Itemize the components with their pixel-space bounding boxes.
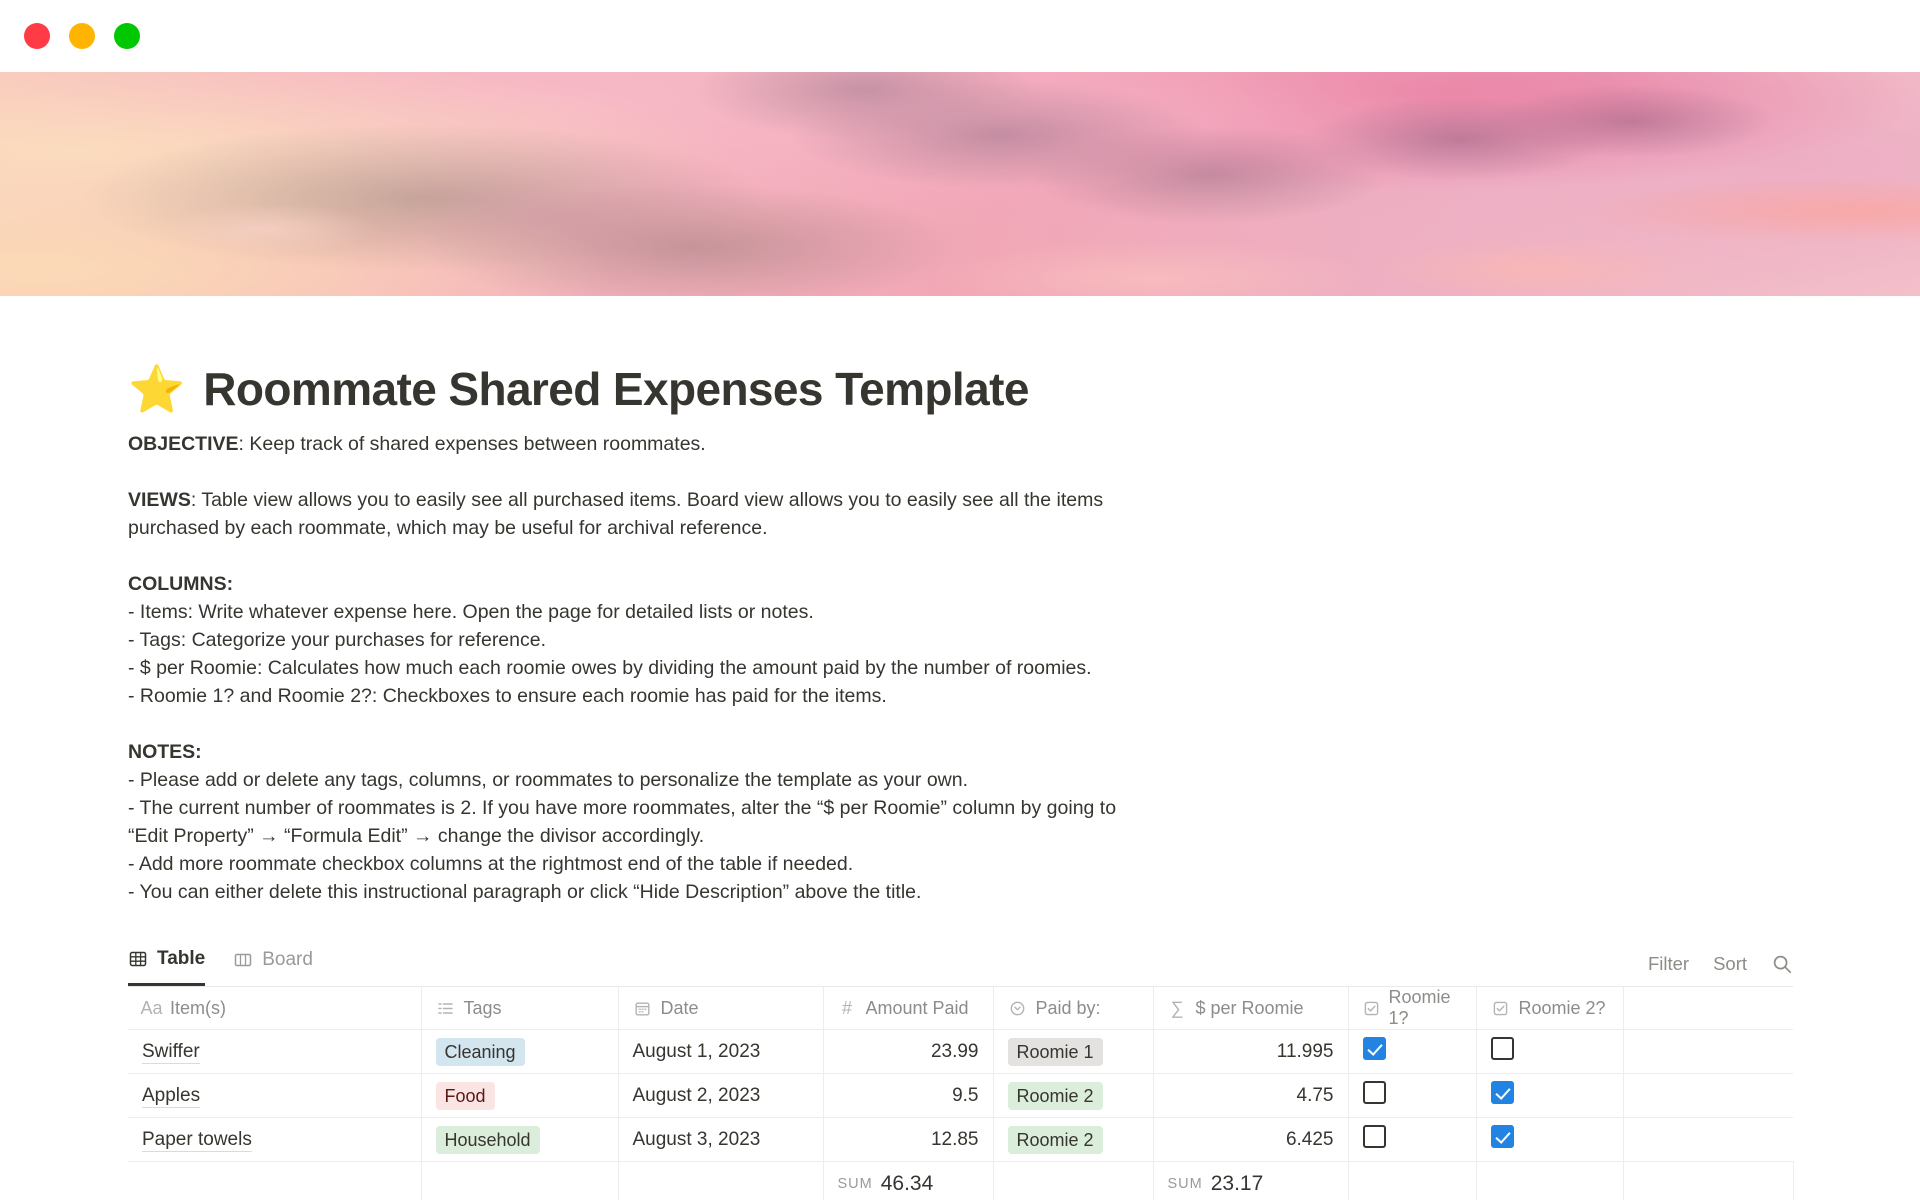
cell-item[interactable]: Apples: [128, 1074, 421, 1118]
footer-empty: [128, 1162, 421, 1200]
footer-empty: [421, 1162, 618, 1200]
column-label: Tags: [464, 998, 502, 1019]
title-text-icon: Aa: [142, 998, 161, 1019]
column-header-tags[interactable]: Tags: [421, 987, 618, 1030]
columns-label: COLUMNS:: [128, 573, 233, 595]
cell-amount[interactable]: 12.85: [823, 1118, 993, 1162]
column-header-paidby[interactable]: Paid by:: [993, 987, 1153, 1030]
cell-roomie1[interactable]: [1348, 1030, 1476, 1074]
views-label: VIEWS: [128, 489, 191, 511]
spacer: [128, 710, 1920, 738]
notes-item: - Please add or delete any tags, columns…: [128, 766, 1148, 794]
star-icon[interactable]: ⭐: [128, 366, 185, 412]
close-button[interactable]: [24, 23, 50, 49]
tab-board-label: Board: [262, 949, 313, 971]
item-link[interactable]: Paper towels: [142, 1129, 252, 1152]
database-block: Table Board Filter Sort: [128, 942, 1793, 1200]
item-link[interactable]: Apples: [142, 1085, 200, 1108]
objective-text: : Keep track of shared expenses between …: [239, 433, 706, 455]
checkbox-icon: [1491, 1000, 1510, 1017]
minimize-button[interactable]: [69, 23, 95, 49]
cell-date[interactable]: August 3, 2023: [618, 1118, 823, 1162]
columns-item: - $ per Roomie: Calculates how much each…: [128, 654, 1148, 682]
objective-label: OBJECTIVE: [128, 433, 239, 455]
per-sum-label: SUM: [1168, 1176, 1203, 1192]
amount-sum[interactable]: SUM46.34: [823, 1162, 993, 1200]
views-paragraph: VIEWS: Table view allows you to easily s…: [128, 486, 1148, 542]
cell-tags[interactable]: Food: [421, 1074, 618, 1118]
table-row[interactable]: Swiffer Cleaning August 1, 2023 23.99 Ro…: [128, 1030, 1793, 1074]
column-header-roomie1[interactable]: Roomie 1?: [1348, 987, 1476, 1030]
notes-label: NOTES:: [128, 741, 202, 763]
cell-amount[interactable]: 9.5: [823, 1074, 993, 1118]
notes-heading: NOTES:: [128, 738, 1148, 766]
per-sum-value: 23.17: [1211, 1172, 1264, 1195]
cell-tags[interactable]: Household: [421, 1118, 618, 1162]
table-row[interactable]: Apples Food August 2, 2023 9.5 Roomie 2 …: [128, 1074, 1793, 1118]
column-label: Amount Paid: [866, 998, 969, 1019]
multi-select-icon: [436, 1000, 455, 1017]
cell-roomie1[interactable]: [1348, 1074, 1476, 1118]
select-icon: [1008, 1000, 1027, 1017]
cell-paid-by[interactable]: Roomie 2: [993, 1118, 1153, 1162]
footer-empty: [1348, 1162, 1476, 1200]
checkbox-icon: [1363, 1000, 1380, 1017]
column-label: Date: [661, 998, 699, 1019]
column-header-amount[interactable]: # Amount Paid: [823, 987, 993, 1030]
roomie2-checkbox[interactable]: [1491, 1081, 1514, 1104]
column-label: Roomie 2?: [1519, 998, 1606, 1019]
cell-item[interactable]: Swiffer: [128, 1030, 421, 1074]
item-link[interactable]: Swiffer: [142, 1041, 200, 1064]
view-tabs: Table Board: [128, 942, 313, 986]
filter-button[interactable]: Filter: [1648, 953, 1689, 975]
cell-item[interactable]: Paper towels: [128, 1118, 421, 1162]
database-toolbar: Table Board Filter Sort: [128, 942, 1793, 986]
column-label: $ per Roomie: [1196, 998, 1304, 1019]
cell-date[interactable]: August 1, 2023: [618, 1030, 823, 1074]
window-titlebar: [0, 0, 1920, 72]
paid-by-chip: Roomie 1: [1008, 1038, 1103, 1066]
calendar-icon: [633, 1000, 652, 1017]
column-header-roomie2[interactable]: Roomie 2?: [1476, 987, 1623, 1030]
footer-empty: [618, 1162, 823, 1200]
roomie1-checkbox[interactable]: [1363, 1081, 1386, 1104]
amount-sum-label: SUM: [838, 1176, 873, 1192]
board-icon: [233, 950, 253, 970]
roomie1-checkbox[interactable]: [1363, 1125, 1386, 1148]
add-column-button[interactable]: [1623, 987, 1793, 1030]
cell-per-roomie: 6.425: [1153, 1118, 1348, 1162]
footer-empty: [1623, 1162, 1793, 1200]
columns-item: - Tags: Categorize your purchases for re…: [128, 626, 1148, 654]
column-label: Item(s): [170, 998, 226, 1019]
objective-paragraph: OBJECTIVE: Keep track of shared expenses…: [128, 430, 1148, 458]
cell-per-roomie: 11.995: [1153, 1030, 1348, 1074]
column-label: Paid by:: [1036, 998, 1101, 1019]
cell-paid-by[interactable]: Roomie 1: [993, 1030, 1153, 1074]
cell-empty: [1623, 1030, 1793, 1074]
spacer: [128, 458, 1920, 486]
cell-paid-by[interactable]: Roomie 2: [993, 1074, 1153, 1118]
column-header-per-roomie[interactable]: ∑ $ per Roomie: [1153, 987, 1348, 1030]
views-text: : Table view allows you to easily see al…: [128, 489, 1103, 539]
page-cover-image: [0, 72, 1920, 296]
cell-roomie1[interactable]: [1348, 1118, 1476, 1162]
footer-empty: [1476, 1162, 1623, 1200]
tag-chip: Household: [436, 1126, 540, 1154]
cell-tags[interactable]: Cleaning: [421, 1030, 618, 1074]
page-title-row: ⭐ Roommate Shared Expenses Template: [128, 362, 1920, 416]
cell-roomie2[interactable]: [1476, 1074, 1623, 1118]
columns-heading: COLUMNS:: [128, 570, 1148, 598]
search-icon[interactable]: [1771, 953, 1793, 975]
page-title[interactable]: Roommate Shared Expenses Template: [203, 362, 1029, 416]
paid-by-chip: Roomie 2: [1008, 1082, 1103, 1110]
paid-by-chip: Roomie 2: [1008, 1126, 1103, 1154]
column-label: Roomie 1?: [1389, 987, 1462, 1029]
notes-item: - You can either delete this instruction…: [128, 878, 1148, 906]
column-header-item[interactable]: Aa Item(s): [128, 987, 421, 1030]
sort-button[interactable]: Sort: [1713, 953, 1747, 975]
column-header-date[interactable]: Date: [618, 987, 823, 1030]
number-icon: #: [838, 998, 857, 1019]
tag-chip: Food: [436, 1082, 495, 1110]
tab-board[interactable]: Board: [233, 942, 313, 986]
roomie2-checkbox[interactable]: [1491, 1125, 1514, 1148]
table-row[interactable]: Paper towels Household August 3, 2023 12…: [128, 1118, 1793, 1162]
database-tools: Filter Sort: [1648, 953, 1793, 986]
cell-roomie2[interactable]: [1476, 1030, 1623, 1074]
notes-item: - Add more roommate checkbox columns at …: [128, 850, 1148, 878]
footer-empty: [993, 1162, 1153, 1200]
columns-item: - Roomie 1? and Roomie 2?: Checkboxes to…: [128, 682, 1148, 710]
roomie2-checkbox[interactable]: [1491, 1037, 1514, 1060]
expenses-table: Aa Item(s): [128, 986, 1794, 1200]
cell-empty: [1623, 1074, 1793, 1118]
cell-roomie2[interactable]: [1476, 1118, 1623, 1162]
notes-item: - The current number of roommates is 2. …: [128, 794, 1148, 850]
table-header-row: Aa Item(s): [128, 987, 1793, 1030]
tag-chip: Cleaning: [436, 1038, 525, 1066]
amount-sum-value: 46.34: [881, 1172, 934, 1195]
cell-date[interactable]: August 2, 2023: [618, 1074, 823, 1118]
maximize-button[interactable]: [114, 23, 140, 49]
per-roomie-sum[interactable]: SUM23.17: [1153, 1162, 1348, 1200]
tab-table[interactable]: Table: [128, 942, 205, 986]
formula-sigma-icon: ∑: [1168, 998, 1187, 1019]
cell-empty: [1623, 1118, 1793, 1162]
tab-table-label: Table: [157, 948, 205, 970]
table-footer-row: SUM46.34 SUM23.17: [128, 1162, 1793, 1200]
roomie1-checkbox[interactable]: [1363, 1037, 1386, 1060]
table-icon: [128, 949, 148, 969]
cell-amount[interactable]: 23.99: [823, 1030, 993, 1074]
spacer: [128, 542, 1920, 570]
cell-per-roomie: 4.75: [1153, 1074, 1348, 1118]
cover-cloud-highlights: [0, 72, 1920, 296]
columns-item: - Items: Write whatever expense here. Op…: [128, 598, 1148, 626]
